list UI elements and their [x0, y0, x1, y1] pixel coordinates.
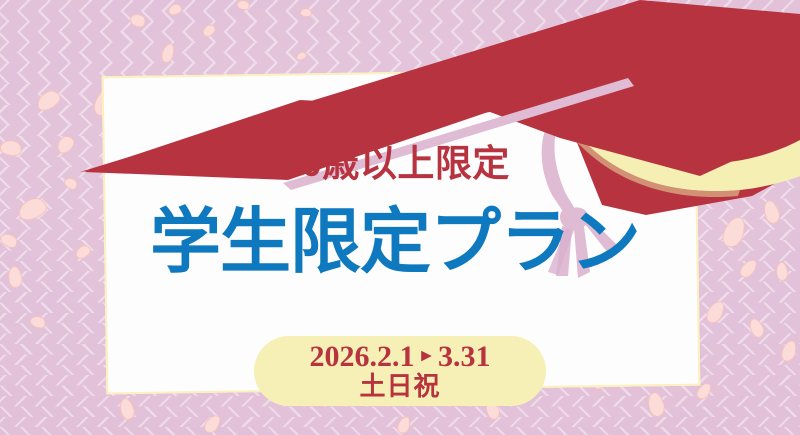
date-range: 2026.2.1 ▸ 3.31	[309, 342, 490, 372]
student-plan-banner: 20歳以上限定 学生限定プラン 2026.2.1 ▸ 3.31 土日祝	[0, 0, 800, 435]
eligible-days-label: 土日祝	[359, 373, 440, 400]
campaign-period-badge: 2026.2.1 ▸ 3.31 土日祝	[254, 336, 546, 406]
right-triangle-arrow-icon: ▸	[421, 346, 431, 365]
date-range-end: 3.31	[438, 342, 491, 372]
date-range-start: 2026.2.1	[309, 342, 414, 372]
